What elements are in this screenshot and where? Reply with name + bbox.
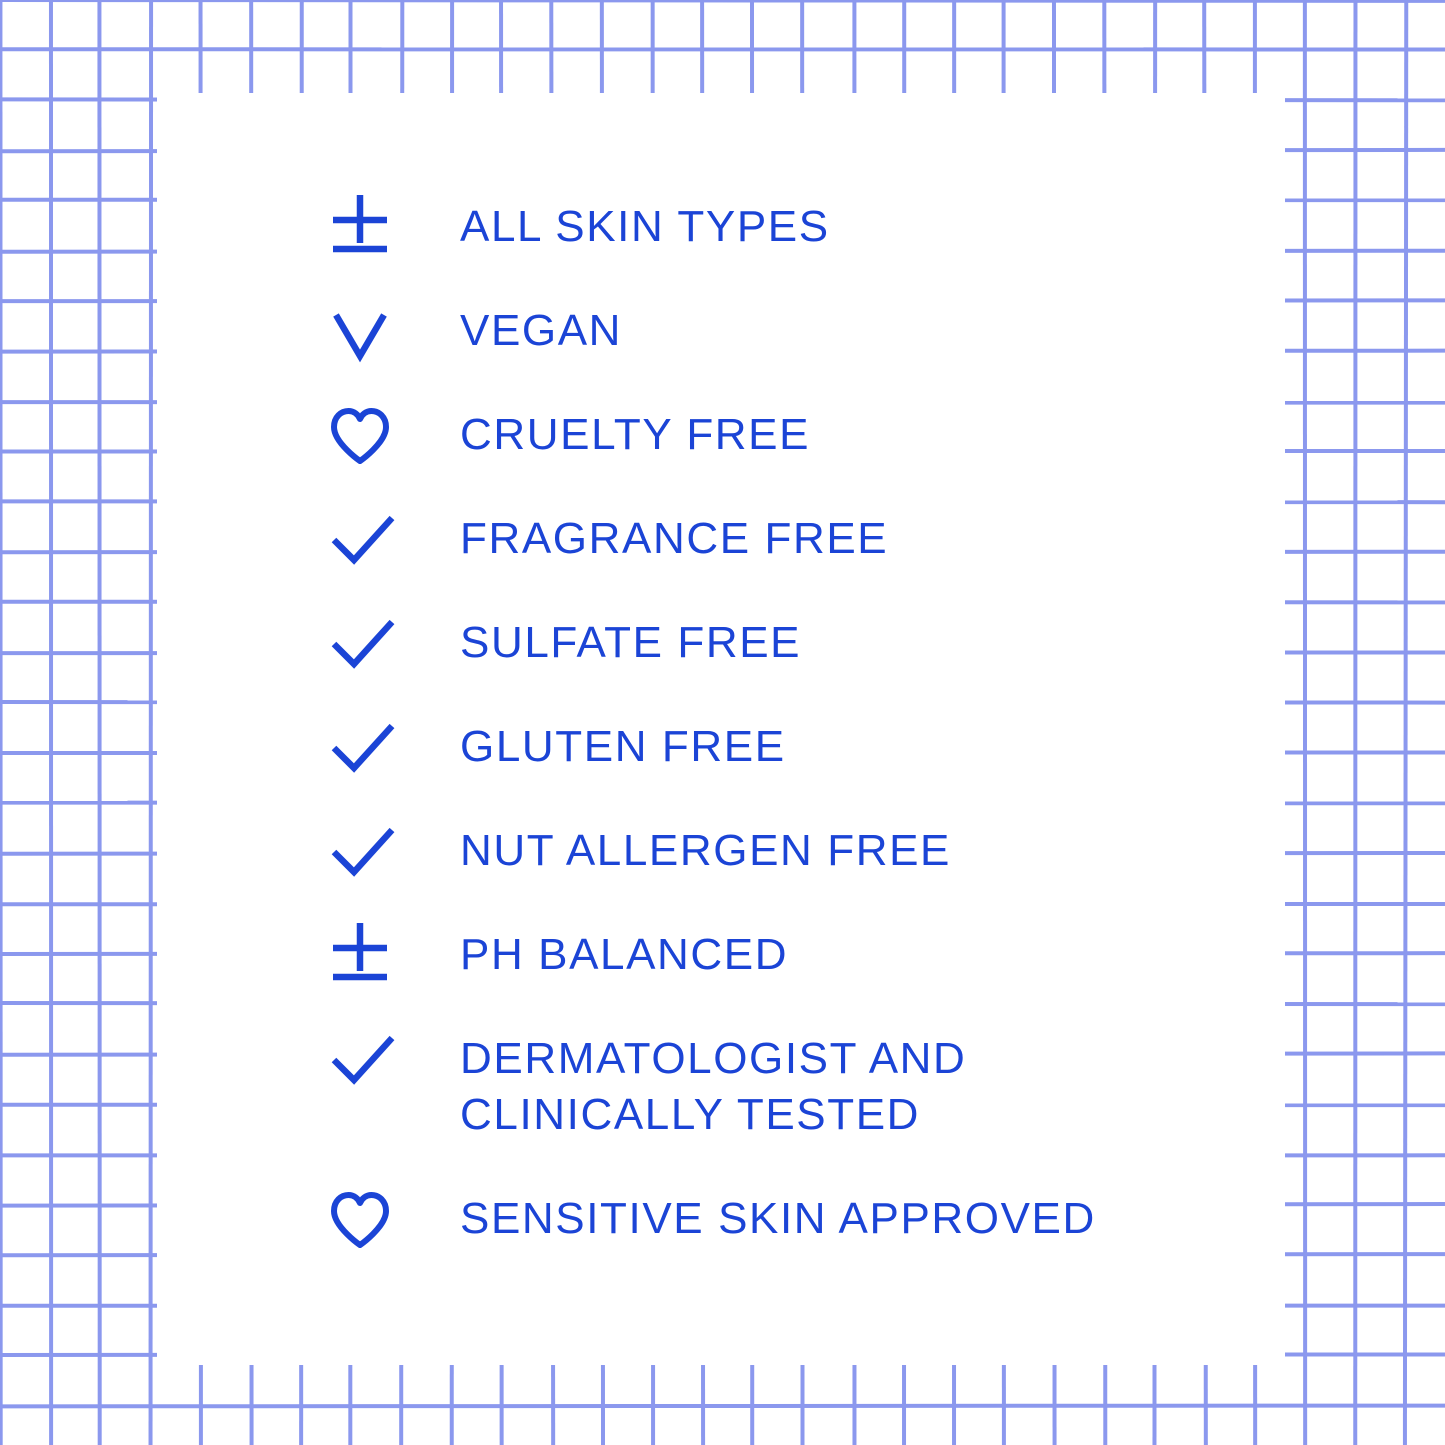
checkmark-icon: [325, 817, 460, 887]
claim-label: CRUELTY FREE: [460, 401, 1285, 463]
claim-row: DERMATOLOGIST AND CLINICALLY TESTED: [325, 1025, 1285, 1185]
claims-list: ALL SKIN TYPES VEGAN CRUELTY FREE: [325, 193, 1285, 1289]
claim-label: DERMATOLOGIST AND CLINICALLY TESTED: [460, 1025, 1285, 1144]
claim-label: NUT ALLERGEN FREE: [460, 817, 1285, 879]
claim-label: ALL SKIN TYPES: [460, 193, 1285, 255]
plus-minus-icon: [325, 193, 460, 263]
plus-minus-icon: [325, 921, 460, 991]
checkmark-icon: [325, 1025, 460, 1095]
claim-row: SULFATE FREE: [325, 609, 1285, 713]
heart-icon: [325, 401, 460, 471]
claim-row: GLUTEN FREE: [325, 713, 1285, 817]
heart-icon: [325, 1185, 460, 1255]
claim-row: ALL SKIN TYPES: [325, 193, 1285, 297]
claim-row: VEGAN: [325, 297, 1285, 401]
claim-label: PH BALANCED: [460, 921, 1285, 983]
checkmark-icon: [325, 505, 460, 575]
claim-label: VEGAN: [460, 297, 1285, 359]
vegan-v-icon: [325, 297, 460, 367]
claim-label: FRAGRANCE FREE: [460, 505, 1285, 567]
claim-label: SENSITIVE SKIN APPROVED: [460, 1185, 1285, 1247]
claim-label: GLUTEN FREE: [460, 713, 1285, 775]
claim-label: SULFATE FREE: [460, 609, 1285, 671]
product-claims-graphic: ALL SKIN TYPES VEGAN CRUELTY FREE: [0, 0, 1445, 1445]
claim-row: SENSITIVE SKIN APPROVED: [325, 1185, 1285, 1289]
checkmark-icon: [325, 609, 460, 679]
claim-row: PH BALANCED: [325, 921, 1285, 1025]
checkmark-icon: [325, 713, 460, 783]
claim-row: NUT ALLERGEN FREE: [325, 817, 1285, 921]
claim-row: CRUELTY FREE: [325, 401, 1285, 505]
claim-row: FRAGRANCE FREE: [325, 505, 1285, 609]
